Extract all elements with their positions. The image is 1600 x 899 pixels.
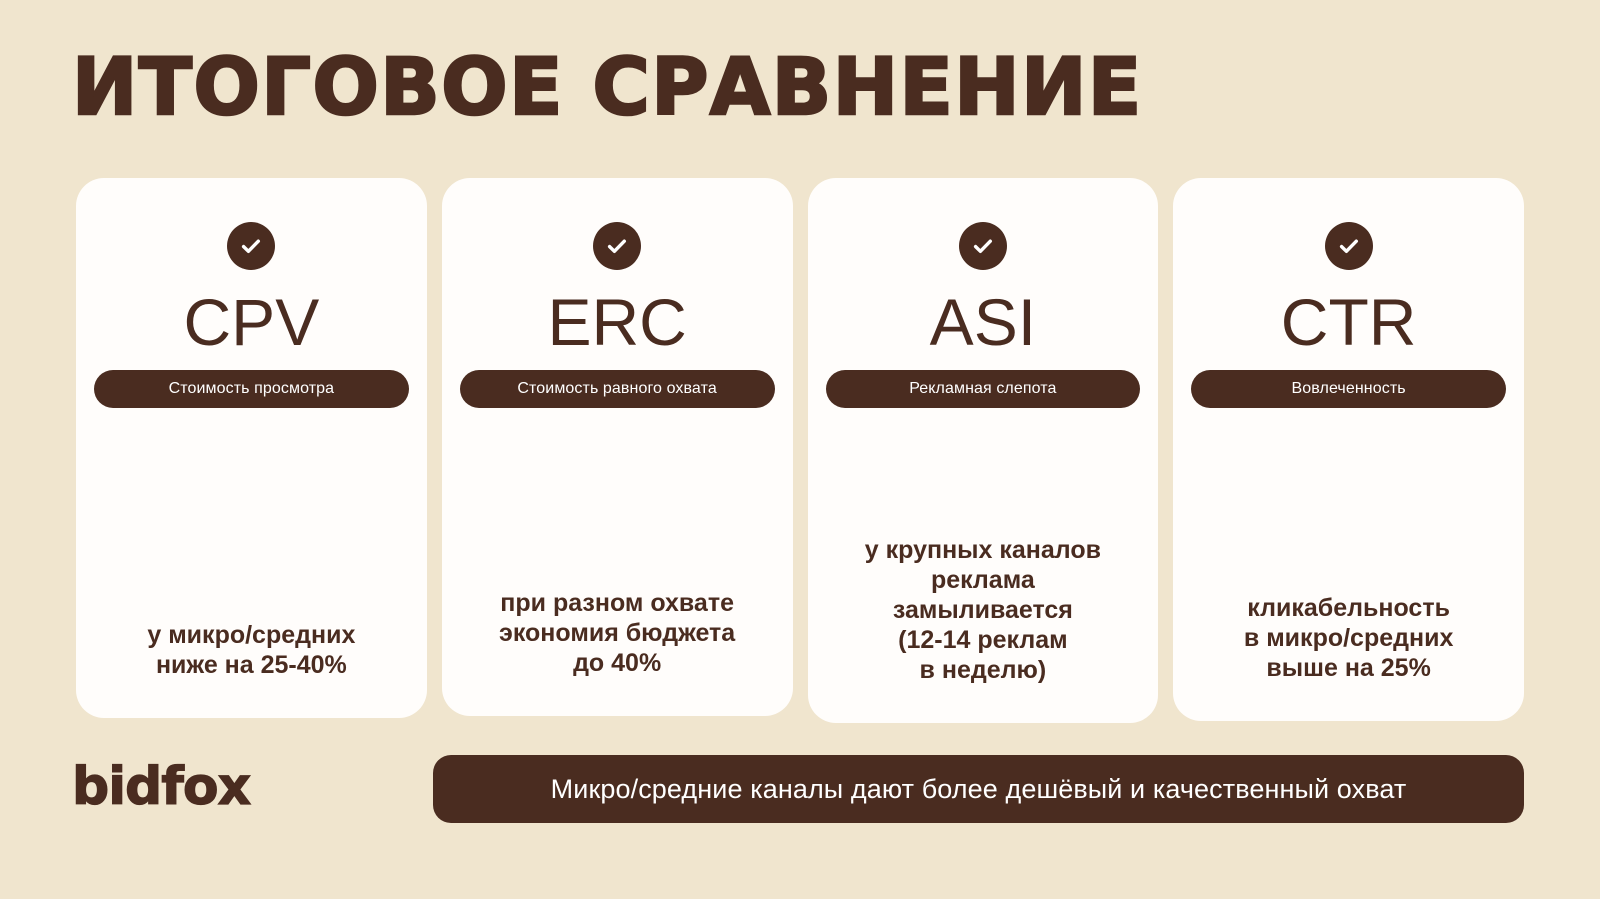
- comparison-cards: CPV Стоимость просмотра у микро/средних …: [76, 178, 1524, 723]
- description-line: экономия бюджета: [460, 618, 775, 648]
- description-line: у микро/средних: [94, 620, 409, 650]
- description-line: в неделю): [826, 655, 1141, 685]
- description-line: в микро/средних: [1191, 623, 1506, 653]
- metric-description: у микро/средних ниже на 25-40%: [94, 620, 409, 680]
- metric-card-ctr[interactable]: CTR Вовлеченность кликабельность в микро…: [1173, 178, 1524, 721]
- metric-card-cpv[interactable]: CPV Стоимость просмотра у микро/средних …: [76, 178, 427, 718]
- description-line: реклама: [826, 565, 1141, 595]
- check-circle-icon: [227, 222, 275, 270]
- metric-card-erc[interactable]: ERC Стоимость равного охвата при разном …: [442, 178, 793, 716]
- metric-abbreviation: ERC: [547, 284, 686, 360]
- description-line: у крупных каналов: [826, 535, 1141, 565]
- metric-pill-label: Вовлеченность: [1191, 370, 1506, 408]
- metric-card-asi[interactable]: ASI Рекламная слепота у крупных каналов …: [808, 178, 1159, 723]
- description-line: замыливается: [826, 595, 1141, 625]
- metric-abbreviation: CPV: [184, 284, 320, 360]
- page-title: ИТОГОВОЕ СРАВНЕНИЕ: [72, 44, 1143, 132]
- metric-abbreviation: CTR: [1281, 284, 1417, 360]
- check-circle-icon: [1325, 222, 1373, 270]
- metric-description: при разном охвате экономия бюджета до 40…: [460, 588, 775, 678]
- metric-pill-label: Стоимость просмотра: [94, 370, 409, 408]
- description-line: кликабельность: [1191, 593, 1506, 623]
- metric-pill-label: Стоимость равного охвата: [460, 370, 775, 408]
- brand-logo: bidfox: [72, 755, 250, 819]
- description-line: выше на 25%: [1191, 653, 1506, 683]
- check-circle-icon: [593, 222, 641, 270]
- description-line: до 40%: [460, 648, 775, 678]
- check-circle-icon: [959, 222, 1007, 270]
- summary-banner: Микро/средние каналы дают более дешёвый …: [433, 755, 1524, 823]
- description-line: ниже на 25-40%: [94, 650, 409, 680]
- description-line: при разном охвате: [460, 588, 775, 618]
- metric-abbreviation: ASI: [930, 284, 1036, 360]
- metric-description: кликабельность в микро/средних выше на 2…: [1191, 593, 1506, 683]
- description-line: (12-14 реклам: [826, 625, 1141, 655]
- metric-description: у крупных каналов реклама замыливается (…: [826, 535, 1141, 685]
- metric-pill-label: Рекламная слепота: [826, 370, 1141, 408]
- slide-root: ИТОГОВОЕ СРАВНЕНИЕ CPV Стоимость просмот…: [0, 0, 1600, 899]
